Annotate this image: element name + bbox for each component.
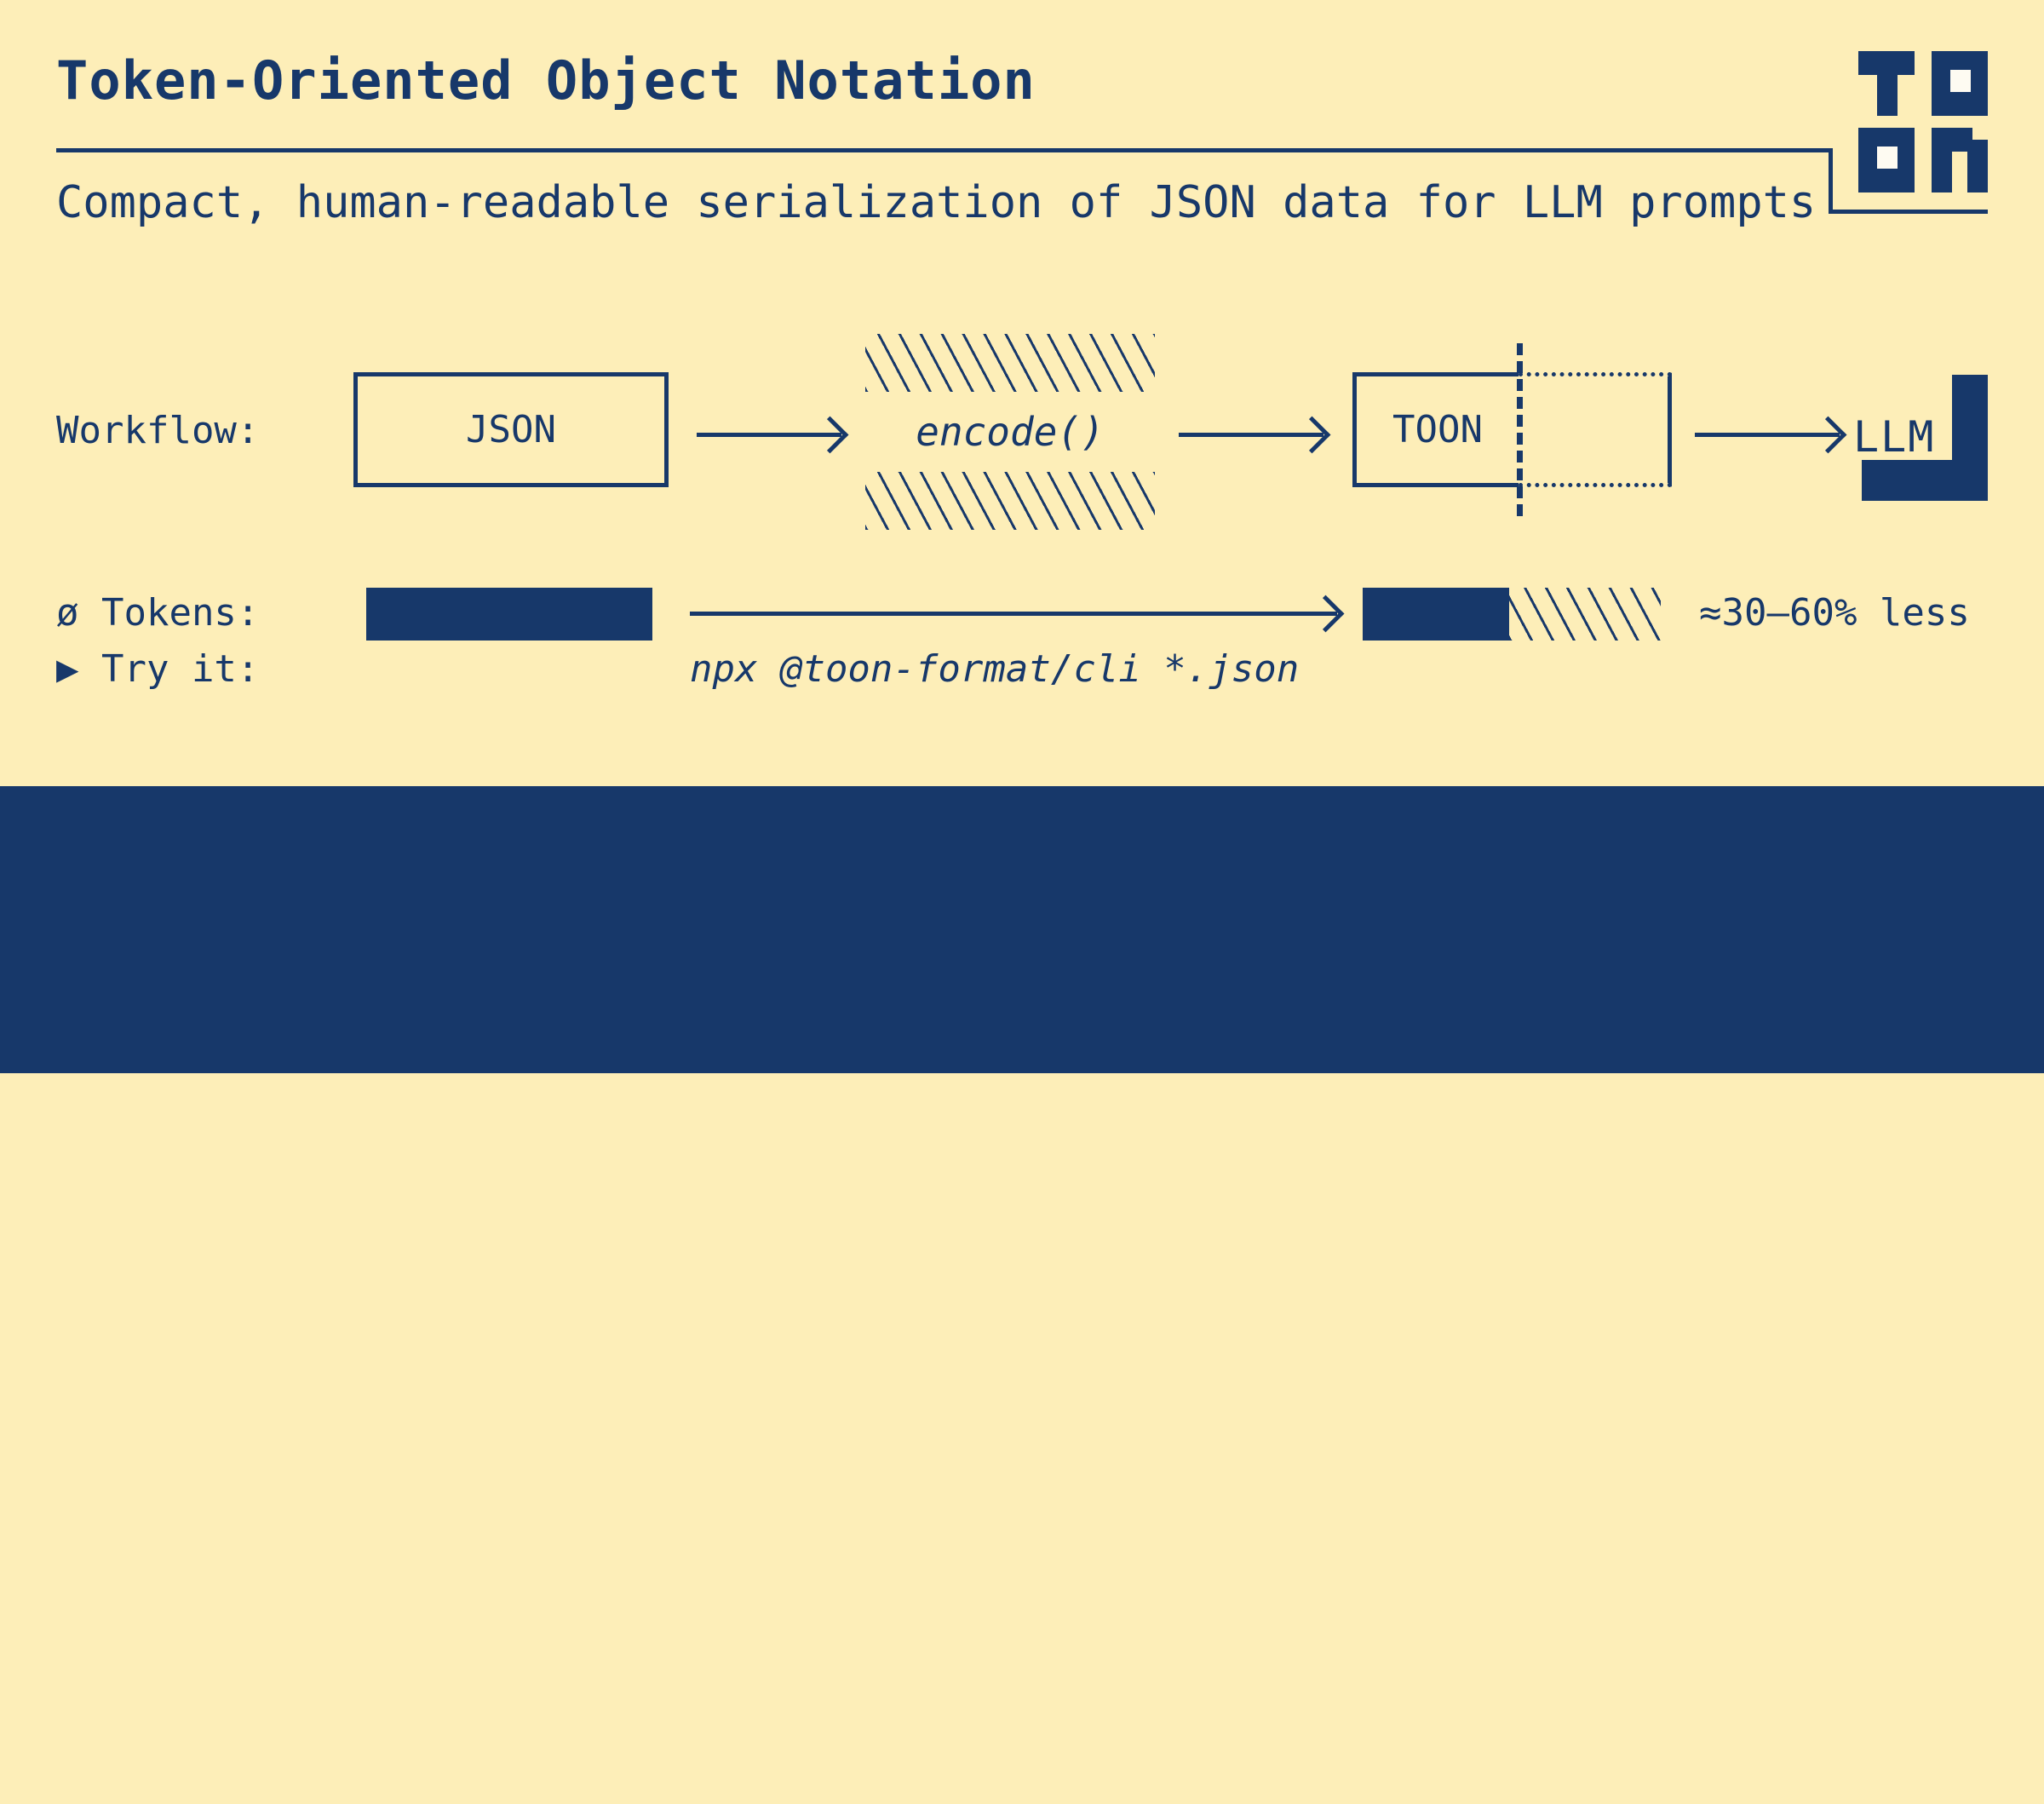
logo-letter-o-first: [1932, 51, 1988, 116]
best-for-bracket-right: [1984, 1655, 1988, 1804]
page-title: Token-Oriented Object Notation: [56, 49, 1036, 112]
encode-hatch-bottom: [865, 472, 1155, 530]
tokens-bar-toon-saved: [1509, 588, 1661, 641]
llm-bracket-bottom: [1862, 460, 1988, 501]
best-for-line-2: varying fields • deep trees: [1276, 1748, 1913, 1794]
retrieval-arrow-toon-icon: [766, 1710, 952, 1716]
poster-canvas: Token-Oriented Object Notation Compact, …: [0, 0, 2044, 1073]
workflow-step-toon: TOON: [1352, 372, 1672, 487]
toon-logo: [1858, 51, 1988, 160]
workflow-step-encode: encode(): [865, 334, 1155, 530]
avg-tokens-bar-json-fill: [368, 1734, 656, 1796]
avg-tokens-bracket-left-cap: [329, 1655, 383, 1658]
retrieval-value-toon: 73.9%: [1005, 1689, 1122, 1735]
logo-letter-n-top: [1932, 128, 1972, 152]
footer-panel: TOON → JSON → avg tokens retrieval accur…: [0, 786, 2044, 1073]
best-for-bracket-left-cap: [1235, 1655, 1284, 1658]
footer-row-label-json: JSON: [56, 1748, 151, 1794]
workflow-step-toon-label: TOON: [1392, 408, 1483, 451]
workflow-arrow-2-icon: [1179, 433, 1323, 437]
logo-letter-t-stem: [1877, 75, 1898, 116]
workflow-step-json-label: JSON: [466, 408, 556, 451]
best-for-bracket-top: [1506, 1655, 1988, 1658]
encode-hatch-top: [865, 334, 1155, 392]
workflow-arrow-1-icon: [697, 433, 841, 437]
tokens-comparison-arrow-icon: [690, 612, 1337, 616]
tokens-label: ø Tokens:: [56, 591, 259, 635]
avg-tokens-bracket-left: [329, 1655, 332, 1804]
retrieval-arrow-json-icon: [766, 1770, 930, 1776]
try-it-label: ▶ Try it:: [56, 647, 259, 691]
section-title-best-for: best for: [1291, 1638, 1480, 1684]
tokens-bar-json: [366, 588, 652, 641]
section-title-retrieval-accuracy: retrieval accuracy: [749, 1638, 1174, 1684]
avg-tokens-bar-toon-hatch: [543, 1679, 656, 1734]
footer-row-label-toon: TOON: [56, 1689, 151, 1735]
logo-letter-n-left: [1932, 152, 1952, 192]
workflow-label: Workflow:: [56, 409, 259, 452]
best-for-line-1: repeated structure • tables: [1276, 1689, 1913, 1735]
tokens-bar-toon: [1363, 588, 1661, 641]
workflow-step-toon-solid: TOON: [1352, 372, 1519, 487]
logo-letter-o-second: [1858, 128, 1915, 192]
retrieval-bracket-right-cap: [1179, 1655, 1235, 1658]
workflow-step-toon-dotted: [1519, 372, 1672, 487]
workflow-arrow-3-icon: [1695, 433, 1840, 437]
logo-letter-n-right: [1967, 140, 1988, 192]
retrieval-value-json: 69.7%: [1005, 1748, 1122, 1794]
workflow-step-toon-divider: [1517, 343, 1523, 516]
header-rule-step: [1829, 148, 1833, 214]
page-subtitle: Compact, human-readable serialization of…: [56, 177, 1816, 228]
retrieval-bracket-left: [690, 1655, 693, 1804]
workflow-step-json: JSON: [353, 372, 669, 487]
avg-tokens-bar-json: [368, 1734, 656, 1796]
tokens-bar-toon-fill: [1363, 588, 1509, 641]
retrieval-bracket-left-cap: [690, 1655, 743, 1658]
avg-tokens-bar-toon-fill: [368, 1679, 543, 1734]
footer-row-arrow-toon-icon: →: [209, 1689, 233, 1735]
cli-command: npx @toon-format/cli *.json: [690, 647, 1299, 691]
header-rule-bottom: [1829, 210, 1988, 214]
footer-row-arrow-json-icon: →: [209, 1748, 233, 1794]
avg-tokens-bar-toon: [368, 1679, 656, 1734]
logo-letter-t-bar: [1858, 51, 1915, 75]
avg-tokens-bracket-right-cap: [632, 1655, 690, 1658]
section-title-avg-tokens: avg tokens: [388, 1638, 623, 1684]
tokens-savings-label: ≈30–60% less: [1699, 591, 1970, 635]
header-rule-top: [56, 148, 1833, 152]
workflow-step-llm-label: LLM: [1853, 412, 1935, 462]
workflow-step-encode-label: encode(): [865, 392, 1155, 472]
best-for-bracket-left: [1235, 1655, 1238, 1804]
